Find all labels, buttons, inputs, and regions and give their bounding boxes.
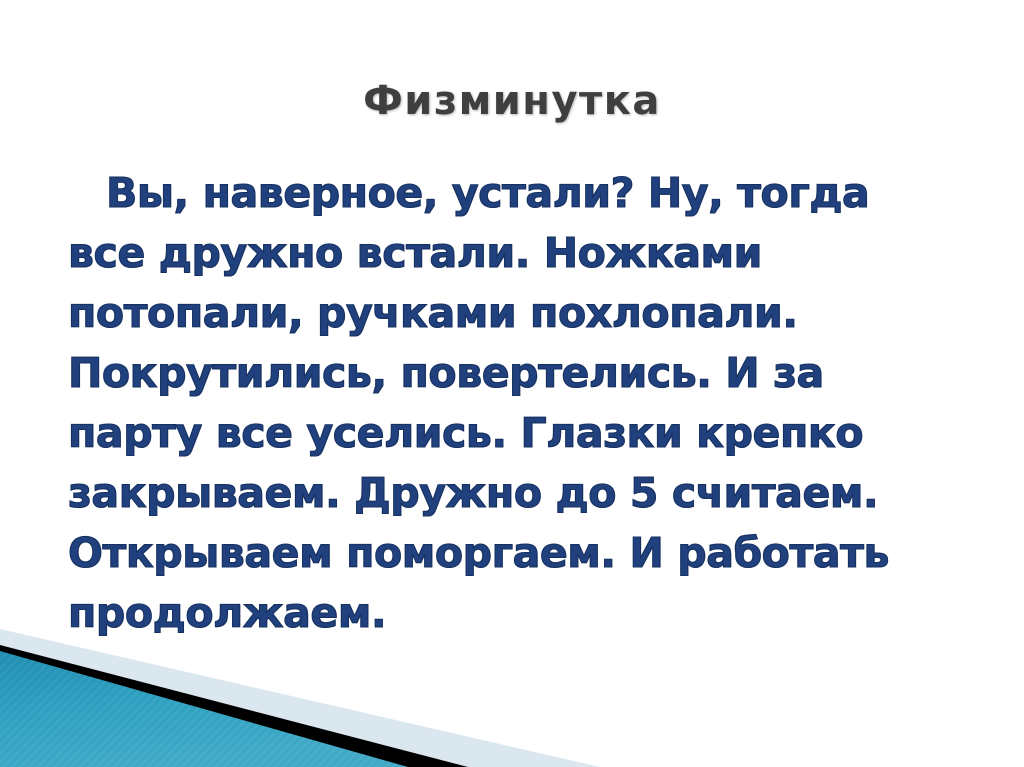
teal-band-texture xyxy=(0,651,408,767)
slide-body-text: Вы, наверное, устали? Ну, тогда все друж… xyxy=(68,163,958,643)
pale-blue-band xyxy=(0,629,600,767)
presentation-slide: Физминутка Вы, наверное, устали? Ну, тог… xyxy=(0,0,1024,767)
slide-body-container: Вы, наверное, устали? Ну, тогда все друж… xyxy=(68,163,958,643)
teal-band xyxy=(0,651,408,767)
black-band xyxy=(0,645,468,767)
page-title: Физминутка xyxy=(0,78,1024,124)
